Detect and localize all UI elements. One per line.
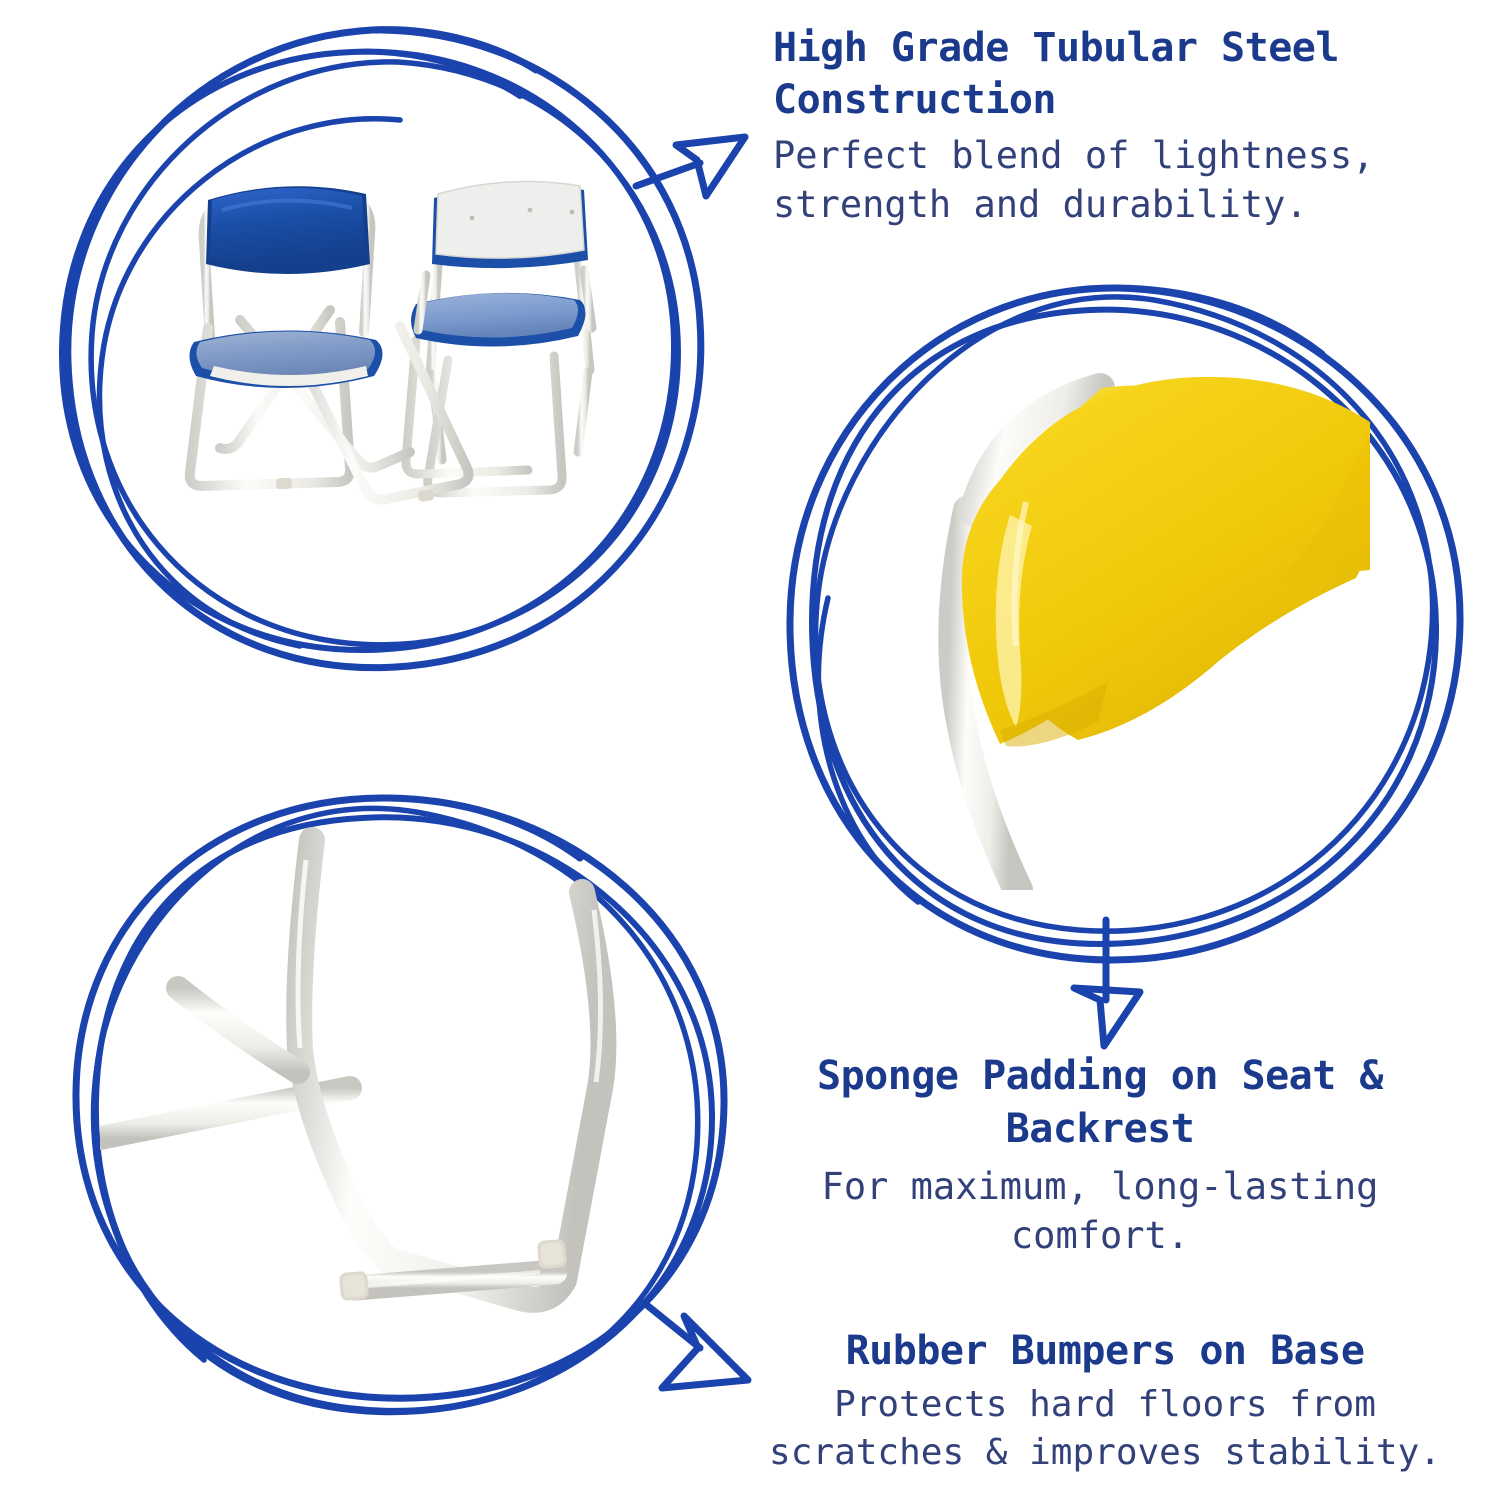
feature-body-sponge: For maximum, long-lasting comfort. [780,1162,1420,1261]
leg-u-frame-tube [299,840,603,1300]
arrow-down-icon [1074,920,1140,1046]
upper-leg-tube [178,988,298,1072]
feature-heading-bumpers: Rubber Bumpers on Base [760,1325,1450,1377]
yellow-backrest-closeup-photo [850,330,1420,890]
rubber-bumper-left [339,1271,369,1301]
arrow-right-icon [636,137,745,196]
feature-heading-sponge: Sponge Padding on Seat & Backrest [780,1050,1420,1156]
feature-block-sponge: Sponge Padding on Seat & Backrest For ma… [780,1050,1420,1261]
infographic-canvas: .ring{fill:none;stroke:#1b43ad;stroke-li… [0,0,1500,1500]
feature-heading-steel: High Grade Tubular Steel Construction [773,22,1393,126]
chair-front-left-seat [189,330,382,388]
chair-back-right [406,256,590,493]
chair-base-frame-closeup-photo [100,820,690,1360]
rubber-bumper-right [537,1239,567,1269]
feature-block-bumpers: Rubber Bumpers on Base Protects hard flo… [760,1325,1450,1477]
feature-body-steel: Perfect blend of lightness, strength and… [773,132,1393,230]
feature-body-bumpers: Protects hard floors from scratches & im… [760,1381,1450,1477]
chair-back-right-seat [411,293,586,347]
chair-back-right-backrest [432,182,588,269]
two-folding-chairs-photo [180,160,600,610]
chair-front-left-backrest [206,186,370,274]
feature-block-steel: High Grade Tubular Steel Construction Pe… [773,22,1393,230]
